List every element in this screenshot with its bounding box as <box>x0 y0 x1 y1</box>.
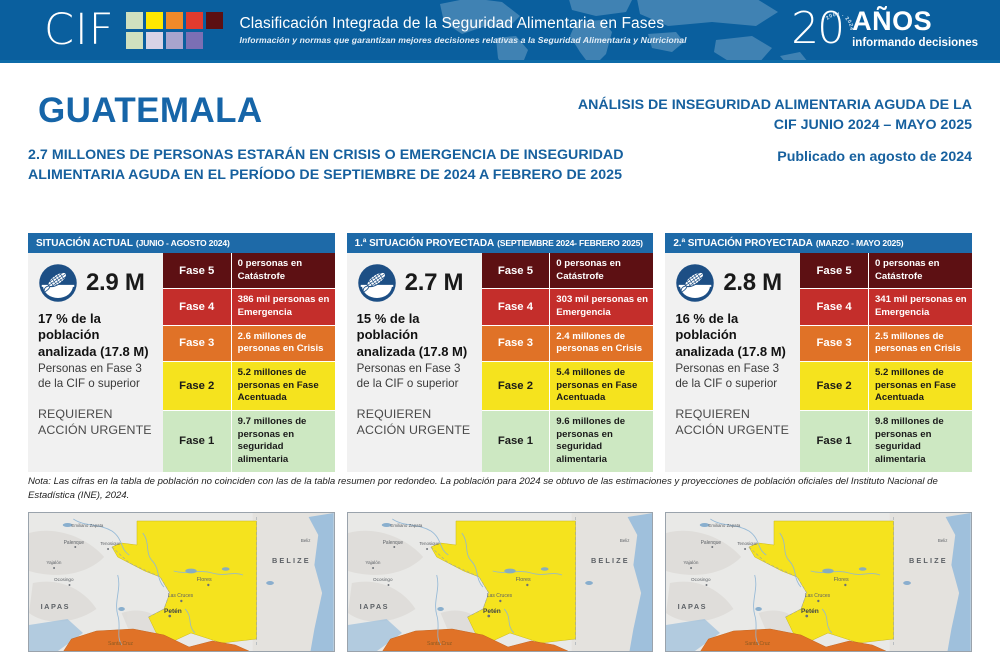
publication-date: Publicado en agosto de 2024 <box>552 149 972 165</box>
map-panel[interactable]: IAPAS BELIZE Palenque Emiliano Zapata Te… <box>665 512 972 652</box>
map-label-emiliano-zapata: Emiliano Zapata <box>709 523 741 528</box>
phase-row: Fase 1 9.8 millones de personas en segur… <box>800 411 972 472</box>
phase-name: Fase 2 <box>482 362 551 410</box>
phase-name: Fase 2 <box>800 362 869 410</box>
brand-subtitle: Información y normas que garantizan mejo… <box>239 35 686 45</box>
phase-name: Fase 5 <box>163 253 232 288</box>
phase-row: Fase 5 0 personas en Catástrofe <box>800 253 972 289</box>
total-affected-value: 2.9 M <box>86 269 145 297</box>
phase3-plus-label: Personas en Fase 3 de la CIF o superior <box>357 362 474 391</box>
footnote: Nota: Las cifras en la tabla de població… <box>28 475 972 504</box>
map-label-chiapas: IAPAS <box>359 602 389 611</box>
ipc-phase-map: IAPAS BELIZE Palenque Emiliano Zapata Te… <box>348 513 653 651</box>
map-label-flores: Flores <box>197 577 212 583</box>
phase-name: Fase 1 <box>800 411 869 472</box>
map-label-belize-city: Beliz <box>938 538 948 543</box>
total-affected-value: 2.7 M <box>405 269 464 297</box>
phase-row: Fase 3 2.6 millones de personas en Crisi… <box>163 326 335 362</box>
title-block: GUATEMALA 2.7 MILLONES DE PERSONAS ESTAR… <box>0 63 1000 221</box>
panel-header: SITUACIÓN ACTUAL (JUNIO - AGOSTO 2024) <box>28 233 335 253</box>
phase-row: Fase 2 5.4 millones de personas en Fase … <box>482 362 654 411</box>
cif-logo-row-bottom <box>126 32 223 49</box>
phase-row: Fase 4 386 mil personas en Emergencia <box>163 289 335 325</box>
phase-table: Fase 5 0 personas en Catástrofe Fase 4 3… <box>163 253 335 472</box>
phase-row: Fase 4 303 mil personas en Emergencia <box>482 289 654 325</box>
panel-body: 2.9 M 17 % de la población analizada (17… <box>28 253 335 472</box>
cif-swatch-phase4 <box>186 12 203 29</box>
phase-description: 341 mil personas en Emergencia <box>869 289 972 324</box>
panel-stats: 2.7 M 15 % de la población analizada (17… <box>347 253 482 472</box>
phase-row: Fase 4 341 mil personas en Emergencia <box>800 289 972 325</box>
cif-swatch-alt1 <box>126 32 143 49</box>
map-strip: IAPAS BELIZE Palenque Emiliano Zapata Te… <box>0 512 1000 652</box>
phase-name: Fase 2 <box>163 362 232 410</box>
map-label-flores: Flores <box>515 577 530 583</box>
cif-swatch-phase1 <box>126 12 143 29</box>
population-percent: 16 % de la población analizada (17.8 M) <box>675 311 792 360</box>
panel-header-title: 1.ª SITUACIÓN PROYECTADA <box>355 238 494 249</box>
phase-description: 0 personas en Catástrofe <box>232 253 335 288</box>
map-label-yajalon: Yajalón <box>365 560 380 565</box>
cif-logo-color-grid <box>126 12 223 49</box>
panel-stats: 2.9 M 17 % de la población analizada (17… <box>28 253 163 472</box>
map-label-las-cruces: Las Cruces <box>487 593 513 599</box>
map-label-palenque: Palenque <box>382 540 403 546</box>
map-label-ocosingo: Ocosingo <box>691 577 711 582</box>
anniversary-logo: 20 2004 · 2024 AÑOS informando decisione… <box>791 7 978 51</box>
analysis-title: ANÁLISIS DE INSEGURIDAD ALIMENTARIA AGUD… <box>552 95 972 135</box>
cif-swatch-alt2 <box>146 32 163 49</box>
map-label-belize: BELIZE <box>591 556 630 565</box>
phase-row: Fase 1 9.6 millones de personas en segur… <box>482 411 654 472</box>
cif-swatch-phase5 <box>206 12 223 29</box>
panel-header: 2.ª SITUACIÓN PROYECTADA (MARZO - MAYO 2… <box>665 233 972 253</box>
total-affected: 2.9 M <box>38 263 155 303</box>
panel-body: 2.8 M 16 % de la población analizada (17… <box>665 253 972 472</box>
ipc-phase-map: IAPAS BELIZE Palenque Emiliano Zapata Te… <box>666 513 971 651</box>
phase-name: Fase 3 <box>482 326 551 361</box>
map-label-las-cruces: Las Cruces <box>805 593 831 599</box>
phase-name: Fase 4 <box>163 289 232 324</box>
map-label-belize: BELIZE <box>909 556 948 565</box>
cif-swatch-phase2 <box>146 12 163 29</box>
map-label-tenosique: Tenosique <box>738 541 759 546</box>
population-percent: 15 % de la población analizada (17.8 M) <box>357 311 474 360</box>
brand-title: Clasificación Integrada de la Seguridad … <box>239 15 686 32</box>
phase-description: 0 personas en Catástrofe <box>550 253 653 288</box>
phase-name: Fase 3 <box>800 326 869 361</box>
map-label-santa-cruz: Santa Cruz <box>108 641 133 647</box>
phase-description: 2.6 millones de personas en Crisis <box>232 326 335 361</box>
total-affected-value: 2.8 M <box>723 269 782 297</box>
map-label-flores: Flores <box>834 577 849 583</box>
bowl-of-grain-icon <box>38 263 78 303</box>
map-panel[interactable]: IAPAS BELIZE Palenque Emiliano Zapata Te… <box>347 512 654 652</box>
map-label-ocosingo: Ocosingo <box>373 577 393 582</box>
panel-stats: 2.8 M 16 % de la población analizada (17… <box>665 253 800 472</box>
phase-row: Fase 3 2.5 millones de personas en Crisi… <box>800 326 972 362</box>
phase-description: 9.7 millones de personas en seguridad al… <box>232 411 335 472</box>
ipc-infographic-page: CIF Clasificación Integrada de la Se <box>0 0 1000 650</box>
situation-panel: SITUACIÓN ACTUAL (JUNIO - AGOSTO 2024) <box>28 233 335 472</box>
phase-row: Fase 5 0 personas en Catástrofe <box>163 253 335 289</box>
map-label-santa-cruz: Santa Cruz <box>427 641 452 647</box>
map-label-peten: Petén <box>483 608 501 615</box>
phase-name: Fase 1 <box>482 411 551 472</box>
map-label-belize: BELIZE <box>272 556 311 565</box>
panel-header-period: (JUNIO - AGOSTO 2024) <box>136 238 230 248</box>
phase-description: 2.4 millones de personas en Crisis <box>550 326 653 361</box>
urgent-action-label: REQUIEREN ACCIÓN URGENTE <box>357 407 474 438</box>
analysis-info: ANÁLISIS DE INSEGURIDAD ALIMENTARIA AGUD… <box>552 95 972 165</box>
situation-panel: 1.ª SITUACIÓN PROYECTADA (SEPTIEMBRE 202… <box>347 233 654 472</box>
phase-row: Fase 2 5.2 millones de personas en Fase … <box>800 362 972 411</box>
urgent-action-label: REQUIEREN ACCIÓN URGENTE <box>38 407 155 438</box>
phase-description: 303 mil personas en Emergencia <box>550 289 653 324</box>
map-label-tenosique: Tenosique <box>419 541 440 546</box>
cif-logo-wordmark: CIF <box>44 9 114 52</box>
ipc-phase-map: IAPAS BELIZE Palenque Emiliano Zapata Te… <box>29 513 334 651</box>
map-label-peten: Petén <box>164 608 182 615</box>
page-title: GUATEMALA <box>38 91 263 131</box>
phase-table: Fase 5 0 personas en Catástrofe Fase 4 3… <box>482 253 654 472</box>
phase-description: 5.2 millones de personas en Fase Acentua… <box>232 362 335 410</box>
phase-description: 5.4 millones de personas en Fase Acentua… <box>550 362 653 410</box>
panel-body: 2.7 M 15 % de la población analizada (17… <box>347 253 654 472</box>
map-label-belize-city: Beliz <box>301 538 311 543</box>
map-label-chiapas: IAPAS <box>41 602 71 611</box>
map-label-yajalon: Yajalón <box>684 560 699 565</box>
phase-row: Fase 1 9.7 millones de personas en segur… <box>163 411 335 472</box>
brand-text: Clasificación Integrada de la Seguridad … <box>239 15 686 45</box>
total-affected: 2.8 M <box>675 263 792 303</box>
map-panel[interactable]: IAPAS BELIZE Palenque Emiliano Zapata Te… <box>28 512 335 652</box>
map-label-emiliano-zapata: Emiliano Zapata <box>71 523 103 528</box>
anniversary-ring-text: 2004 · 2024 <box>825 12 854 30</box>
anniversary-years-label: AÑOS <box>852 9 978 35</box>
map-label-palenque: Palenque <box>701 540 722 546</box>
map-label-palenque: Palenque <box>64 540 85 546</box>
map-label-chiapas: IAPAS <box>678 602 708 611</box>
phase-description: 2.5 millones de personas en Crisis <box>869 326 972 361</box>
situation-panels: SITUACIÓN ACTUAL (JUNIO - AGOSTO 2024) <box>0 233 1000 472</box>
map-label-tenosique: Tenosique <box>100 541 121 546</box>
bowl-of-grain-icon <box>357 263 397 303</box>
phase-description: 5.2 millones de personas en Fase Acentua… <box>869 362 972 410</box>
phase-description: 9.6 millones de personas en seguridad al… <box>550 411 653 472</box>
panel-header-title: SITUACIÓN ACTUAL <box>36 238 133 249</box>
urgent-action-label: REQUIEREN ACCIÓN URGENTE <box>675 407 792 438</box>
map-label-emiliano-zapata: Emiliano Zapata <box>390 523 422 528</box>
anniversary-tagline: informando decisiones <box>852 37 978 49</box>
phase3-plus-label: Personas en Fase 3 de la CIF o superior <box>675 362 792 391</box>
phase-name: Fase 5 <box>800 253 869 288</box>
phase-row: Fase 3 2.4 millones de personas en Crisi… <box>482 326 654 362</box>
map-label-ocosingo: Ocosingo <box>54 577 74 582</box>
map-label-yajalon: Yajalón <box>46 560 61 565</box>
phase-row: Fase 2 5.2 millones de personas en Fase … <box>163 362 335 411</box>
page-header: CIF Clasificación Integrada de la Se <box>0 0 1000 63</box>
phase-description: 0 personas en Catástrofe <box>869 253 972 288</box>
cif-swatch-alt4 <box>186 32 203 49</box>
map-label-santa-cruz: Santa Cruz <box>745 641 770 647</box>
situation-panel: 2.ª SITUACIÓN PROYECTADA (MARZO - MAYO 2… <box>665 233 972 472</box>
bowl-of-grain-icon <box>675 263 715 303</box>
phase-name: Fase 4 <box>800 289 869 324</box>
anniversary-text: AÑOS informando decisiones <box>852 9 978 49</box>
cif-swatch-phase3 <box>166 12 183 29</box>
panel-header-title: 2.ª SITUACIÓN PROYECTADA <box>673 238 812 249</box>
panel-header: 1.ª SITUACIÓN PROYECTADA (SEPTIEMBRE 202… <box>347 233 654 253</box>
phase-row: Fase 5 0 personas en Catástrofe <box>482 253 654 289</box>
population-percent: 17 % de la población analizada (17.8 M) <box>38 311 155 360</box>
phase-name: Fase 5 <box>482 253 551 288</box>
phase-name: Fase 4 <box>482 289 551 324</box>
panel-header-period: (MARZO - MAYO 2025) <box>816 238 904 248</box>
map-label-belize-city: Beliz <box>620 538 630 543</box>
map-label-las-cruces: Las Cruces <box>168 593 194 599</box>
phase-description: 9.8 millones de personas en seguridad al… <box>869 411 972 472</box>
brand-lockup: CIF Clasificación Integrada de la Se <box>0 9 687 52</box>
panel-header-period: (SEPTIEMBRE 2024- FEBRERO 2025) <box>497 238 643 248</box>
total-affected: 2.7 M <box>357 263 474 303</box>
map-label-peten: Petén <box>801 608 819 615</box>
phase3-plus-label: Personas en Fase 3 de la CIF o superior <box>38 362 155 391</box>
phase-name: Fase 1 <box>163 411 232 472</box>
phase-description: 386 mil personas en Emergencia <box>232 289 335 324</box>
phase-table: Fase 5 0 personas en Catástrofe Fase 4 3… <box>800 253 972 472</box>
cif-logo-row-top <box>126 12 223 29</box>
cif-swatch-alt3 <box>166 32 183 49</box>
anniversary-ring-icon: 2004 · 2024 <box>817 9 857 49</box>
phase-name: Fase 3 <box>163 326 232 361</box>
